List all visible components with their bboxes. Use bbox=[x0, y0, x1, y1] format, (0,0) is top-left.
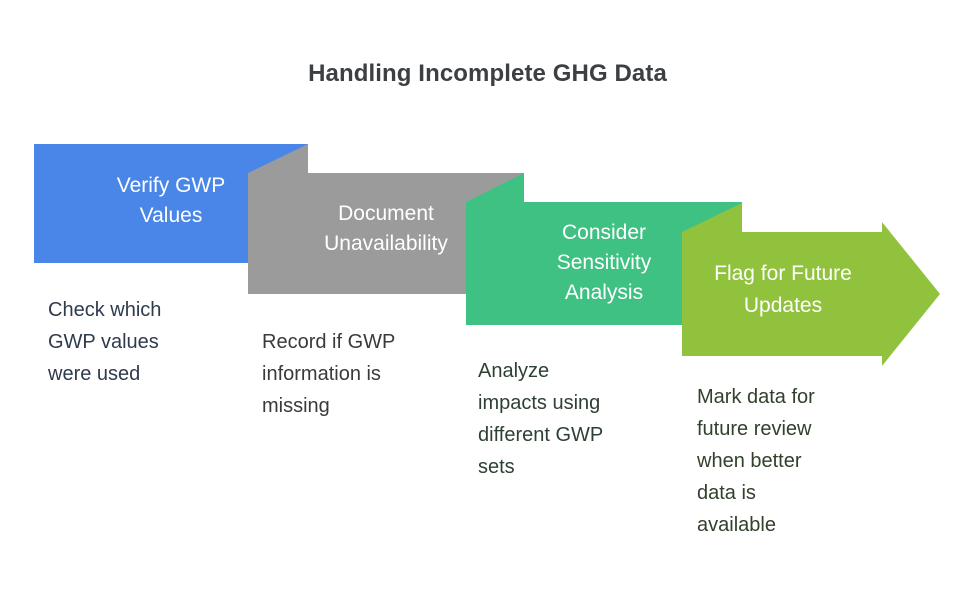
step-4-label: Flag for Future Updates bbox=[682, 258, 884, 322]
step-3-fold-tab bbox=[466, 173, 524, 202]
step-1-caption: Check which GWP values were used bbox=[48, 294, 258, 390]
step-3-caption: Analyze impacts using different GWP sets bbox=[478, 355, 693, 483]
step-2-caption: Record if GWP information is missing bbox=[262, 326, 477, 422]
diagram-canvas: Handling Incomplete GHG Data Verify GWP … bbox=[0, 0, 975, 604]
page-title: Handling Incomplete GHG Data bbox=[0, 60, 975, 88]
step-2-fold-tab bbox=[248, 144, 308, 173]
step-4-caption: Mark data for future review when better … bbox=[697, 381, 897, 541]
